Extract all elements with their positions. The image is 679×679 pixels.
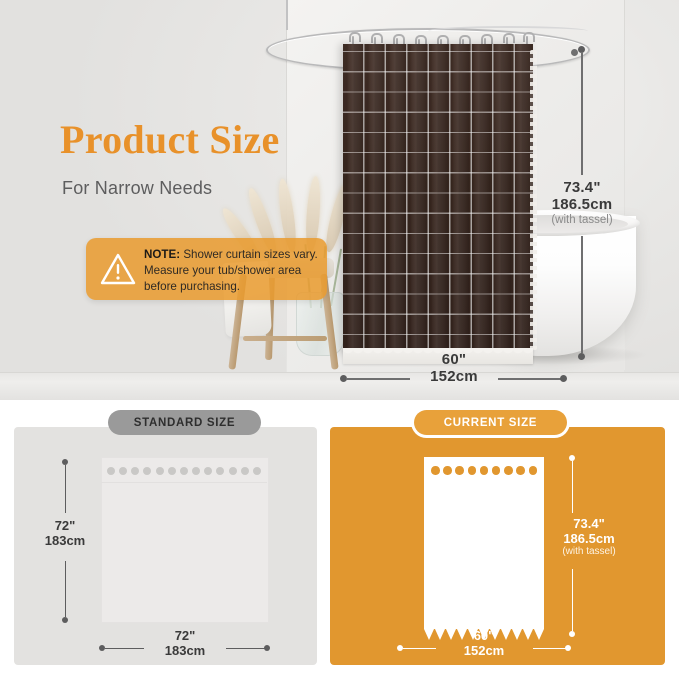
- cur-width-line-right: [533, 648, 566, 649]
- cur-height-line-lower: [572, 569, 573, 631]
- grommet-icon: [492, 466, 501, 475]
- note-callout: NOTE: Shower curtain sizes vary. Measure…: [86, 238, 327, 300]
- grommet-icon: [504, 466, 513, 475]
- grommet-icon: [216, 467, 224, 475]
- std-height-cm: 183cm: [30, 534, 100, 549]
- width-guide-right-dot: [560, 375, 567, 382]
- std-width-line-right: [226, 648, 265, 649]
- cur-width-right-dot: [565, 645, 571, 651]
- tassel-icon: [424, 629, 434, 640]
- standard-size-pill: STANDARD SIZE: [108, 410, 261, 435]
- current-height-label: 73.4" 186.5cm (with tassel): [547, 517, 631, 558]
- standard-curtain-grommets: [107, 466, 261, 475]
- grommet-icon: [480, 466, 489, 475]
- grommet-icon: [229, 467, 237, 475]
- stool-crossbar: [243, 336, 327, 341]
- current-curtain-graphic: [424, 457, 544, 629]
- grommet-icon: [107, 467, 115, 475]
- grommet-icon: [156, 467, 164, 475]
- tassel-icon: [534, 629, 544, 640]
- cur-height-line-upper: [572, 461, 573, 513]
- shower-curtain-product: [343, 44, 533, 354]
- curtain-side-tassel: [530, 50, 537, 350]
- cur-height-bottom-dot: [569, 631, 575, 637]
- grommet-icon: [143, 467, 151, 475]
- std-width-inches: 72": [150, 629, 220, 644]
- height-guide-bottom-dot: [578, 353, 585, 360]
- width-guide-line-left: [346, 378, 410, 380]
- grommet-icon: [131, 467, 139, 475]
- standard-height-label: 72" 183cm: [30, 519, 100, 548]
- hero-width-cm: 152cm: [412, 369, 496, 386]
- std-height-inches: 72": [30, 519, 100, 534]
- cur-height-cm: 186.5cm: [547, 532, 631, 547]
- rod-ceiling-support: [286, 0, 288, 30]
- cur-height-inches: 73.4": [547, 517, 631, 532]
- note-text: NOTE: Shower curtain sizes vary. Measure…: [144, 247, 320, 295]
- tassel-icon: [523, 629, 533, 640]
- height-guide-line-upper: [581, 52, 583, 175]
- grommet-icon: [204, 467, 212, 475]
- current-size-pill: CURRENT SIZE: [414, 410, 567, 435]
- glass-vase: [296, 292, 344, 356]
- height-guide-line-lower: [581, 236, 583, 353]
- current-curtain-grommets: [431, 466, 537, 475]
- standard-width-label: 72" 183cm: [150, 629, 220, 658]
- cur-width-inches: 60": [449, 629, 519, 644]
- grommet-icon: [241, 467, 249, 475]
- grommet-icon: [180, 467, 188, 475]
- grommet-icon: [168, 467, 176, 475]
- cur-height-qualifier: (with tassel): [547, 546, 631, 557]
- grommet-icon: [516, 466, 525, 475]
- hero-height-label: 73.4" 186.5cm (with tassel): [540, 180, 624, 226]
- width-guide-line-right: [498, 378, 562, 380]
- std-height-line-upper: [65, 465, 66, 513]
- tassel-icon: [435, 629, 445, 640]
- std-width-right-dot: [264, 645, 270, 651]
- hero-height-cm: 186.5cm: [540, 197, 624, 214]
- rod-end-knob: [571, 49, 578, 56]
- grommet-icon: [455, 466, 464, 475]
- floor-edge-line: [0, 372, 679, 373]
- current-width-label: 60" 152cm: [449, 629, 519, 658]
- std-width-cm: 183cm: [150, 644, 220, 659]
- hero-height-inches: 73.4": [540, 180, 624, 197]
- grommet-icon: [468, 466, 477, 475]
- hero-height-qualifier: (with tassel): [540, 214, 624, 227]
- cur-width-cm: 152cm: [449, 644, 519, 659]
- grommet-icon: [253, 467, 261, 475]
- grommet-icon: [119, 467, 127, 475]
- hero-width-inches: 60": [412, 352, 496, 369]
- grommet-icon: [431, 466, 440, 475]
- cur-width-line-left: [403, 648, 436, 649]
- std-height-line-lower: [65, 561, 66, 617]
- warning-triangle-icon: [100, 252, 136, 286]
- page-title: Product Size: [60, 116, 280, 163]
- standard-curtain-header-line: [101, 482, 267, 483]
- product-size-infographic: 73.4" 186.5cm (with tassel) 60" 152cm Pr…: [0, 0, 679, 679]
- std-width-line-left: [105, 648, 144, 649]
- std-height-bottom-dot: [62, 617, 68, 623]
- hero-bathroom-scene: 73.4" 186.5cm (with tassel) 60" 152cm: [0, 0, 679, 400]
- grommet-icon: [192, 467, 200, 475]
- grommet-icon: [529, 466, 538, 475]
- hero-width-label: 60" 152cm: [412, 352, 496, 386]
- grommet-icon: [443, 466, 452, 475]
- note-label: NOTE:: [144, 248, 180, 261]
- page-subtitle: For Narrow Needs: [62, 178, 212, 199]
